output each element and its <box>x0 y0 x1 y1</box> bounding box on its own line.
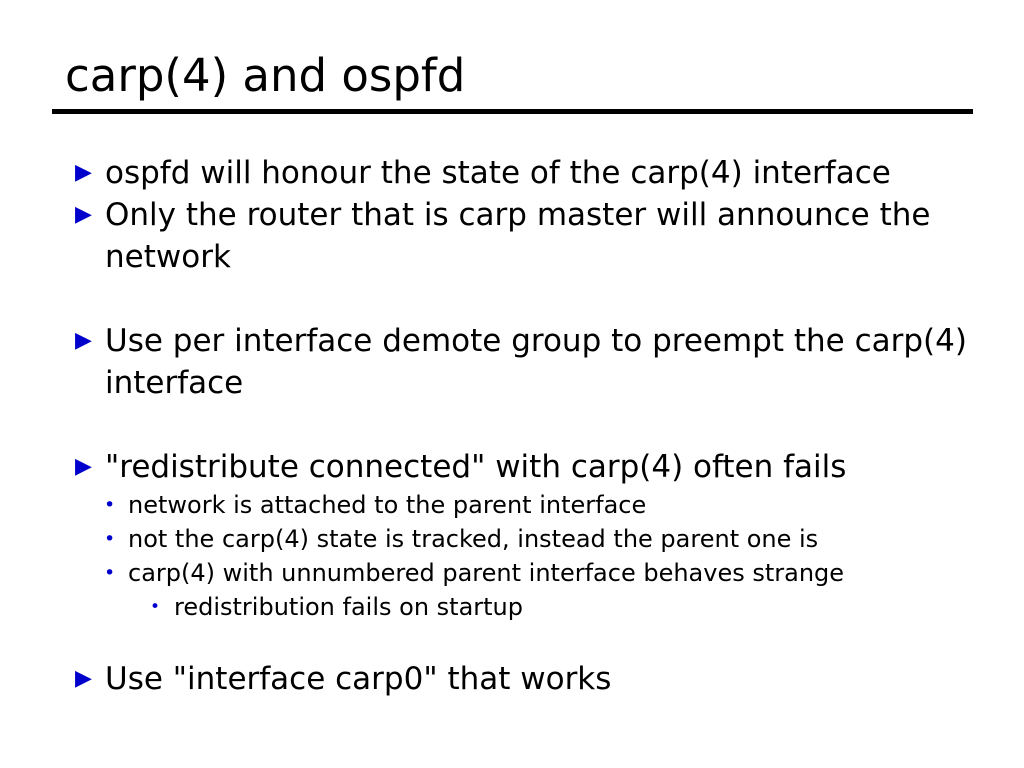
bullet-text: ospfd will honour the state of the carp(… <box>105 152 984 194</box>
title-divider <box>52 109 973 114</box>
bullet-group-two: ▶ Use per interface demote group to pree… <box>0 320 1024 404</box>
bullet-item: ▶ Use "interface carp0" that works <box>0 658 1024 700</box>
sub-bullet-text: not the carp(4) state is tracked, instea… <box>128 522 984 556</box>
sub-sub-bullet-item: • redistribution fails on startup <box>0 590 1024 624</box>
triangle-bullet-icon: ▶ <box>75 320 97 362</box>
triangle-bullet-icon: ▶ <box>75 446 97 488</box>
sub-bullet-item: • network is attached to the parent inte… <box>0 488 1024 522</box>
page-title: carp(4) and ospfd <box>52 48 973 104</box>
bullet-text: Only the router that is carp master will… <box>105 194 984 278</box>
sub-bullet-text: carp(4) with unnumbered parent interface… <box>128 556 984 590</box>
sub-bullet-item: • not the carp(4) state is tracked, inst… <box>0 522 1024 556</box>
bullet-item: ▶ Only the router that is carp master wi… <box>0 194 1024 278</box>
dot-bullet-icon: • <box>104 522 122 556</box>
bullet-group-spacer <box>0 624 1024 658</box>
sub-bullet-item: • carp(4) with unnumbered parent interfa… <box>0 556 1024 590</box>
bullet-text: "redistribute connected" with carp(4) of… <box>105 446 984 488</box>
bullet-text: Use per interface demote group to preemp… <box>105 320 984 404</box>
bullet-item: ▶ ospfd will honour the state of the car… <box>0 152 1024 194</box>
sub-bullet-text: network is attached to the parent interf… <box>128 488 984 522</box>
triangle-bullet-icon: ▶ <box>75 152 97 194</box>
bullet-group-spacer <box>0 404 1024 446</box>
bullet-group-four: ▶ Use "interface carp0" that works <box>0 658 1024 700</box>
slide: carp(4) and ospfd ▶ ospfd will honour th… <box>0 0 1024 768</box>
dot-bullet-icon: • <box>104 556 122 590</box>
bullet-item: ▶ Use per interface demote group to pree… <box>0 320 1024 404</box>
bullet-text: Use "interface carp0" that works <box>105 658 984 700</box>
sub-sub-bullet-text: redistribution fails on startup <box>174 590 984 624</box>
bullet-group-spacer <box>0 278 1024 320</box>
triangle-bullet-icon: ▶ <box>75 194 97 236</box>
bullet-group-one: ▶ ospfd will honour the state of the car… <box>0 152 1024 278</box>
slide-body: ▶ ospfd will honour the state of the car… <box>0 152 1024 700</box>
bullet-item: ▶ "redistribute connected" with carp(4) … <box>0 446 1024 488</box>
dot-bullet-icon: • <box>104 488 122 522</box>
triangle-bullet-icon: ▶ <box>75 658 97 700</box>
dot-bullet-icon: • <box>150 590 168 624</box>
bullet-group-three: ▶ "redistribute connected" with carp(4) … <box>0 446 1024 624</box>
slide-title-block: carp(4) and ospfd <box>52 48 973 114</box>
